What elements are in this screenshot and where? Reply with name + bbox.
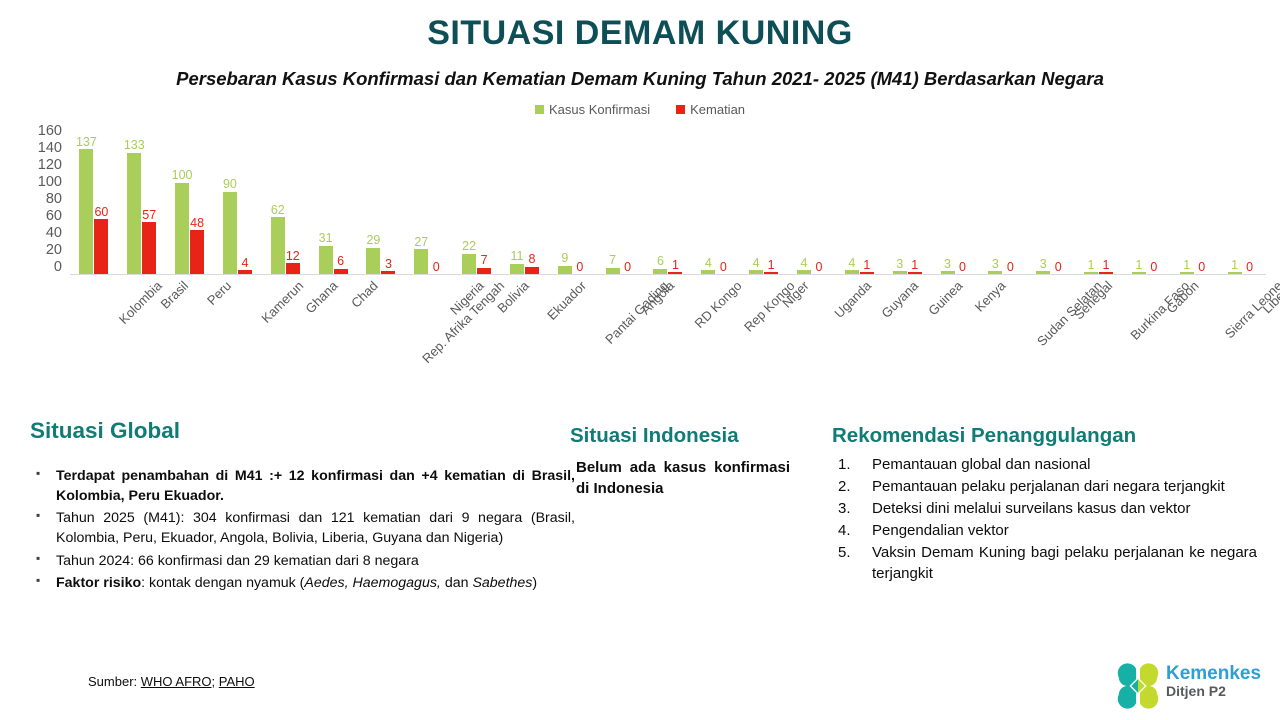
bar-wrap: 1: [1132, 128, 1146, 274]
bar: [366, 248, 380, 274]
bar-value-label: 1: [1231, 259, 1238, 272]
bar-value-label: 1: [863, 259, 870, 272]
chart-plot-area: 1376013357100489046212316293270227118907…: [70, 128, 1266, 274]
bar-wrap: 4: [701, 128, 715, 274]
bar-value-label: 1: [672, 259, 679, 272]
bar-wrap: 4: [749, 128, 763, 274]
bar-group: 904: [214, 128, 262, 274]
bar-wrap: 0: [1243, 128, 1257, 274]
list-item: Tahun 2024: 66 konfirmasi dan 29 kematia…: [30, 551, 575, 571]
bar-group: 270: [405, 128, 453, 274]
list-item: Tahun 2025 (M41): 304 konfirmasi dan 121…: [30, 508, 575, 548]
bar-value-label: 1: [1088, 259, 1095, 272]
bar-value-label: 0: [816, 261, 823, 274]
bar-group: 10: [1170, 128, 1218, 274]
bar-value-label: 6: [657, 255, 664, 268]
list-item: Terdapat penambahan di M41 :+ 12 konfirm…: [30, 466, 575, 506]
x-axis-tick: Kamerun: [259, 278, 307, 326]
list-item-number: 2.: [838, 476, 862, 497]
bar-value-label: 1: [768, 259, 775, 272]
bar-group: 10: [1122, 128, 1170, 274]
list-item-text: Pengendalian vektor: [872, 522, 1009, 539]
bar-value-label: 8: [528, 253, 535, 266]
bar-value-label: 48: [190, 217, 204, 230]
y-axis-tick: 40: [46, 226, 62, 241]
bar-wrap: 57: [142, 128, 156, 274]
bar-wrap: 22: [462, 128, 476, 274]
bar: [525, 267, 539, 274]
bar: [286, 263, 300, 274]
y-axis-tick: 100: [38, 175, 62, 190]
bar-wrap: 90: [223, 128, 237, 274]
y-axis-tick: 80: [46, 192, 62, 207]
bar-group: 11: [1075, 128, 1123, 274]
bar-wrap: 0: [716, 128, 730, 274]
list-item-number: 3.: [838, 498, 862, 519]
bar-value-label: 1: [1183, 259, 1190, 272]
global-situation-heading: Situasi Global: [30, 418, 575, 444]
y-axis-tick: 160: [38, 124, 62, 139]
text-run: Aedes, Haemogagus,: [304, 575, 440, 591]
bar-value-label: 11: [510, 250, 523, 263]
bar-group: 61: [644, 128, 692, 274]
bar: [142, 222, 156, 274]
bar-group: 41: [740, 128, 788, 274]
bar-group: 90: [548, 128, 596, 274]
bar-value-label: 60: [94, 206, 108, 219]
bar-wrap: 7: [606, 128, 620, 274]
bar-value-label: 62: [271, 204, 285, 217]
source-link[interactable]: PAHO: [219, 674, 255, 689]
indonesia-situation-text: Belum ada kasus konfirmasi di Indonesia: [570, 457, 790, 500]
bar-group: 31: [883, 128, 931, 274]
slide-root: SITUASI DEMAM KUNING Persebaran Kasus Ko…: [0, 0, 1280, 720]
bar: [223, 192, 237, 274]
page-title: SITUASI DEMAM KUNING: [0, 14, 1280, 53]
bar-wrap: 8: [525, 128, 539, 274]
bar-value-label: 1: [1103, 259, 1110, 272]
bar: [319, 246, 333, 274]
legend-label: Kasus Konfirmasi: [549, 102, 650, 117]
bar-group: 41: [835, 128, 883, 274]
y-axis-tick: 140: [38, 141, 62, 156]
bar-wrap: 48: [190, 128, 204, 274]
bar-value-label: 0: [1246, 261, 1253, 274]
y-axis-tick: 120: [38, 158, 62, 173]
x-axis-tick: Kolombia: [116, 278, 165, 327]
bar-value-label: 0: [959, 261, 966, 274]
bar-wrap: 12: [286, 128, 300, 274]
bar: [271, 217, 285, 274]
bar-value-label: 3: [992, 258, 999, 271]
text-run: Terdapat penambahan di M41 :+ 12 konfirm…: [56, 468, 575, 504]
y-axis-tick: 60: [46, 209, 62, 224]
bar-value-label: 0: [576, 261, 583, 274]
x-axis-tick: Ekuador: [545, 278, 590, 323]
y-axis-tick: 20: [46, 243, 62, 258]
bar-value-label: 4: [753, 257, 760, 270]
bar-wrap: 133: [127, 128, 141, 274]
bar-wrap: 0: [429, 128, 443, 274]
bar-wrap: 1: [1180, 128, 1194, 274]
bar-wrap: 4: [845, 128, 859, 274]
indonesia-situation-section: Situasi Indonesia Belum ada kasus konfir…: [570, 424, 790, 500]
bar-group: 40: [692, 128, 740, 274]
bar-wrap: 0: [1195, 128, 1209, 274]
bar-value-label: 7: [609, 254, 616, 267]
kemenkes-flower-icon: [1114, 662, 1162, 710]
x-axis-tick: RD Kongo: [692, 278, 745, 331]
bar: [94, 219, 108, 274]
y-axis-tick: 0: [54, 260, 62, 275]
global-situation-list: Terdapat penambahan di M41 :+ 12 konfirm…: [30, 466, 575, 593]
bar-wrap: 0: [956, 128, 970, 274]
bar: [414, 249, 428, 274]
chart-legend: Kasus KonfirmasiKematian: [0, 102, 1280, 117]
bar-wrap: 6: [334, 128, 348, 274]
bar-value-label: 0: [720, 261, 727, 274]
bar-wrap: 3: [988, 128, 1002, 274]
bar: [558, 266, 572, 274]
bar-value-label: 0: [1198, 261, 1205, 274]
bar-wrap: 137: [79, 128, 93, 274]
list-item: 2.Pemantauan pelaku perjalanan dari nega…: [832, 476, 1257, 497]
kemenkes-logo: Kemenkes Ditjen P2: [1114, 662, 1274, 714]
bar-value-label: 3: [944, 258, 951, 271]
kemenkes-logo-text: Kemenkes Ditjen P2: [1166, 664, 1261, 699]
x-axis-tick: Peru: [204, 278, 234, 308]
bar-wrap: 31: [319, 128, 333, 274]
kemenkes-logo-name: Kemenkes: [1166, 664, 1261, 684]
bar-value-label: 3: [1040, 258, 1047, 271]
list-item-text: Deteksi dini melalui surveilans kasus da…: [872, 500, 1190, 517]
bar-group: 293: [357, 128, 405, 274]
bar-group: 118: [501, 128, 549, 274]
bar-group: 316: [309, 128, 357, 274]
bar-group: 40: [788, 128, 836, 274]
x-axis-tick: Uganda: [831, 278, 874, 321]
legend-swatch-icon: [676, 105, 685, 114]
recommendation-section: Rekomendasi Penanggulangan 1.Pemantauan …: [832, 424, 1257, 585]
bar-wrap: 0: [812, 128, 826, 274]
text-run: Tahun 2025 (M41): 304 konfirmasi dan 121…: [56, 510, 575, 546]
bar-group: 30: [1027, 128, 1075, 274]
bar-wrap: 3: [1036, 128, 1050, 274]
bar-group: 30: [931, 128, 979, 274]
legend-swatch-icon: [535, 105, 544, 114]
bar-value-label: 3: [385, 258, 392, 271]
text-run: Tahun 2024: 66 konfirmasi dan 29 kematia…: [56, 553, 419, 569]
kemenkes-logo-sub: Ditjen P2: [1166, 684, 1261, 699]
legend-item: Kematian: [676, 102, 745, 117]
bar-wrap: 1: [860, 128, 874, 274]
bar-value-label: 9: [561, 252, 568, 265]
bar-group: 6212: [261, 128, 309, 274]
bar-wrap: 0: [1051, 128, 1065, 274]
bar-value-label: 4: [241, 257, 248, 270]
x-axis-labels: KolombiaBrasilPeruKamerunGhanaChadRep. A…: [0, 278, 1280, 373]
recommendation-list: 1.Pemantauan global dan nasional2.Pemant…: [832, 454, 1257, 584]
bar-wrap: 9: [558, 128, 572, 274]
bar-value-label: 3: [896, 258, 903, 271]
y-axis-ticks: 160140120100806040200: [22, 124, 62, 274]
bar-value-label: 0: [1150, 261, 1157, 274]
bar-wrap: 60: [94, 128, 108, 274]
page-subtitle: Persebaran Kasus Konfirmasi dan Kematian…: [0, 68, 1280, 90]
x-axis-tick: Guyana: [879, 278, 922, 321]
text-run: ): [532, 575, 537, 591]
bar-value-label: 1: [1135, 259, 1142, 272]
bar-value-label: 0: [433, 261, 440, 274]
bar-wrap: 1: [1099, 128, 1113, 274]
bar-value-label: 27: [414, 236, 428, 249]
bar-value-label: 4: [801, 257, 808, 270]
bar-value-label: 57: [142, 209, 156, 222]
bar-group: 227: [453, 128, 501, 274]
bar: [190, 230, 204, 274]
bar-group: 13760: [70, 128, 118, 274]
bar-value-label: 22: [462, 240, 476, 253]
list-item: Faktor risiko: kontak dengan nyamuk (Aed…: [30, 573, 575, 593]
recommendation-heading: Rekomendasi Penanggulangan: [832, 424, 1257, 448]
bar-value-label: 12: [286, 250, 300, 263]
bar-value-label: 29: [366, 234, 380, 247]
list-item-number: 4.: [838, 520, 862, 541]
bar-value-label: 0: [624, 261, 631, 274]
bar-wrap: 3: [941, 128, 955, 274]
text-run: Faktor risiko: [56, 575, 141, 591]
list-item-text: Pemantauan pelaku perjalanan dari negara…: [872, 478, 1225, 495]
text-run: Sabethes: [472, 575, 532, 591]
bar-group: 10048: [166, 128, 214, 274]
bar: [462, 254, 476, 274]
bar-wrap: 27: [414, 128, 428, 274]
x-axis-tick: Kenya: [972, 278, 1009, 315]
bar-value-label: 0: [1007, 261, 1014, 274]
bar-value-label: 4: [848, 257, 855, 270]
indonesia-situation-heading: Situasi Indonesia: [570, 424, 790, 448]
legend-item: Kasus Konfirmasi: [535, 102, 650, 117]
bar-wrap: 62: [271, 128, 285, 274]
source-link[interactable]: WHO AFRO: [141, 674, 212, 689]
bar-wrap: 1: [1228, 128, 1242, 274]
bar-wrap: 100: [175, 128, 189, 274]
list-item-number: 1.: [838, 454, 862, 475]
bar: [127, 153, 141, 274]
bar-wrap: 29: [366, 128, 380, 274]
global-situation-section: Situasi Global Terdapat penambahan di M4…: [30, 418, 575, 595]
bar-value-label: 0: [1055, 261, 1062, 274]
text-run: dan: [441, 575, 473, 591]
list-item-text: Pemantauan global dan nasional: [872, 456, 1091, 473]
bar-wrap: 0: [1003, 128, 1017, 274]
bar-value-label: 1: [911, 259, 918, 272]
bar-wrap: 11: [510, 128, 524, 274]
list-item-text: Vaksin Demam Kuning bagi pelaku perjalan…: [872, 544, 1257, 582]
list-item: 3.Deteksi dini melalui surveilans kasus …: [832, 498, 1257, 519]
bar-wrap: 0: [621, 128, 635, 274]
bar-group: 10: [1218, 128, 1266, 274]
x-axis-tick: Ghana: [303, 278, 341, 316]
bar-wrap: 6: [653, 128, 667, 274]
bar-wrap: 0: [1147, 128, 1161, 274]
x-axis-tick: Brasil: [157, 278, 191, 312]
legend-label: Kematian: [690, 102, 745, 117]
bar-group: 13357: [118, 128, 166, 274]
bar: [175, 183, 189, 274]
bar-wrap: 3: [381, 128, 395, 274]
list-item: 5.Vaksin Demam Kuning bagi pelaku perjal…: [832, 542, 1257, 584]
bar-wrap: 1: [668, 128, 682, 274]
bar-value-label: 7: [481, 254, 488, 267]
bar-wrap: 0: [573, 128, 587, 274]
bar-value-label: 90: [223, 178, 237, 191]
bar-value-label: 6: [337, 255, 344, 268]
list-item-number: 5.: [838, 542, 862, 563]
bar-value-label: 4: [705, 257, 712, 270]
bar-wrap: 4: [797, 128, 811, 274]
bar-wrap: 3: [893, 128, 907, 274]
source-separator: ;: [212, 674, 219, 689]
list-item: 4.Pengendalian vektor: [832, 520, 1257, 541]
bar-wrap: 1: [908, 128, 922, 274]
bar-group: 70: [596, 128, 644, 274]
source-note: Sumber: WHO AFRO; PAHO: [88, 674, 255, 689]
bar-wrap: 1: [1084, 128, 1098, 274]
bar: [510, 264, 524, 274]
x-axis-tick: Chad: [348, 278, 381, 311]
bar-wrap: 1: [764, 128, 778, 274]
bar-group: 30: [979, 128, 1027, 274]
bar-wrap: 7: [477, 128, 491, 274]
source-prefix: Sumber:: [88, 674, 141, 689]
bar-wrap: 4: [238, 128, 252, 274]
x-axis-tick: Guinea: [925, 278, 965, 318]
list-item: 1.Pemantauan global dan nasional: [832, 454, 1257, 475]
chart-baseline: [70, 274, 1266, 275]
bar: [79, 149, 93, 274]
bar-value-label: 31: [319, 232, 333, 245]
text-run: : kontak dengan nyamuk (: [141, 575, 304, 591]
